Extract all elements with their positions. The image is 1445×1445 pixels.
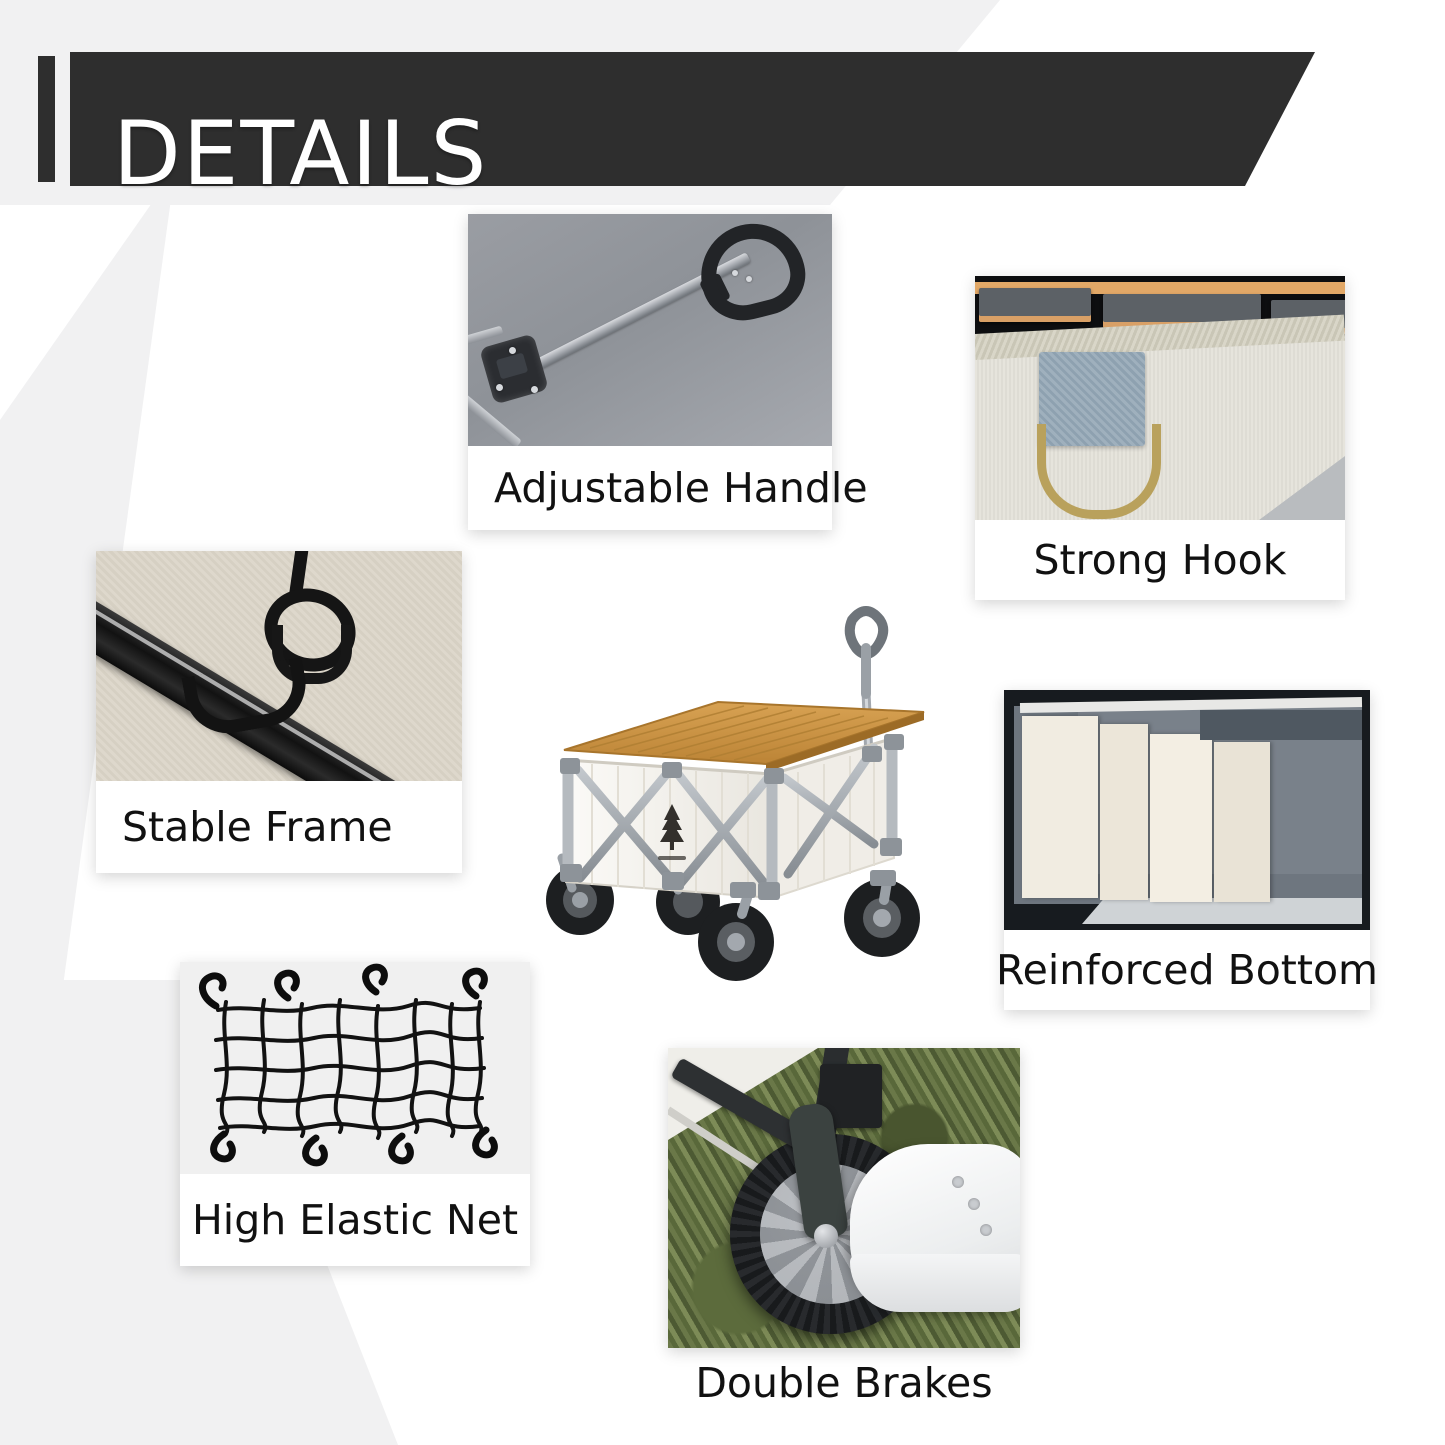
rivet-icon [509,347,516,354]
infographic-canvas: DETAILS Adjustable Handle [0,0,1445,1445]
feature-label-high-elastic-net: High Elastic Net [180,1174,530,1266]
rivet-icon [732,270,738,276]
feature-card-reinforced-bottom: Reinforced Bottom [1004,690,1370,1010]
photo-stable-frame [96,551,462,781]
photo-reinforced-bottom [1004,690,1370,930]
rivet-icon [746,276,752,282]
cargo-net-icon [180,962,530,1174]
feature-card-strong-hook: Strong Hook [975,276,1345,600]
photo-strong-hook [975,276,1345,520]
header-banner: DETAILS [0,52,1340,186]
sneaker-sole [850,1254,1020,1312]
stiffener-panel [1022,716,1098,898]
header-accent-bar [38,56,55,182]
stiffener-panel [1214,742,1270,902]
wagon-cart-illustration [522,582,962,1002]
page-title: DETAILS [113,110,488,198]
feature-card-stable-frame: Stable Frame [96,551,462,873]
shoe-eyelet [952,1176,964,1188]
rivet-icon [531,386,538,393]
feature-label-adjustable-handle: Adjustable Handle [468,446,832,530]
photo-adjustable-handle [468,214,832,446]
slat [979,288,1091,322]
rivet-icon [496,384,503,391]
stiffener-panel [1150,734,1212,902]
shoe-eyelet [968,1198,980,1210]
feature-label-reinforced-bottom: Reinforced Bottom [1004,930,1370,1010]
feature-card-double-brakes: Double Brakes [668,1048,1020,1418]
hero-product-image [522,582,962,1002]
feature-card-adjustable-handle: Adjustable Handle [468,214,832,530]
feature-label-stable-frame: Stable Frame [96,781,462,873]
photo-high-elastic-net [180,962,530,1174]
wheel-front-left [698,903,774,981]
interior-shadow [1200,710,1362,740]
feature-label-strong-hook: Strong Hook [975,520,1345,600]
feature-card-high-elastic-net: High Elastic Net [180,962,530,1266]
axle-bolt [814,1224,838,1248]
photo-double-brakes [668,1048,1020,1348]
shoe-eyelet [980,1224,992,1236]
feature-label-double-brakes: Double Brakes [668,1348,1020,1418]
stiffener-panel [1100,724,1148,900]
